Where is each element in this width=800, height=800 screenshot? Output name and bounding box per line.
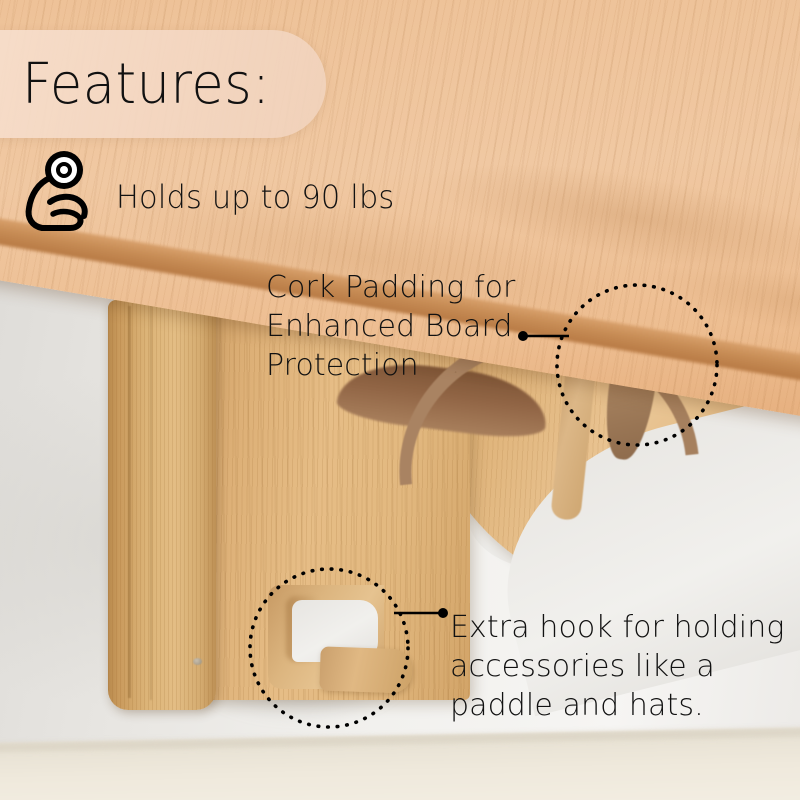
flexing-arm-strength-icon (20, 150, 96, 232)
page-title: Features: (22, 52, 270, 117)
product-feature-infographic: Features: Holds up to 90 lbs Cork Paddin… (0, 0, 800, 800)
weight-capacity-label: Holds up to 90 lbs (116, 178, 394, 216)
callout-cork-padding: Cork Padding for Enhanced Board Protecti… (266, 268, 566, 385)
annotation-overlay: Features: Holds up to 90 lbs Cork Paddin… (0, 0, 800, 800)
highlight-weight-capacity: Holds up to 90 lbs (20, 150, 440, 246)
callout-extra-hook: Extra hook for holding accessories like … (450, 608, 790, 725)
leader-dot-extra-hook (438, 608, 448, 618)
highlight-circle-cork (557, 285, 717, 445)
features-badge: Features: (0, 30, 326, 138)
callout-cork-line-2: Enhanced Board (266, 307, 566, 346)
callout-hook-line-1: Extra hook for holding (450, 608, 790, 647)
callout-hook-line-2: accessories like a (450, 647, 790, 686)
callout-hook-line-3: paddle and hats. (450, 686, 790, 725)
highlight-circle-extra-hook (250, 569, 408, 727)
callout-cork-line-3: Protection (266, 346, 566, 385)
callout-cork-line-1: Cork Padding for (266, 268, 566, 307)
